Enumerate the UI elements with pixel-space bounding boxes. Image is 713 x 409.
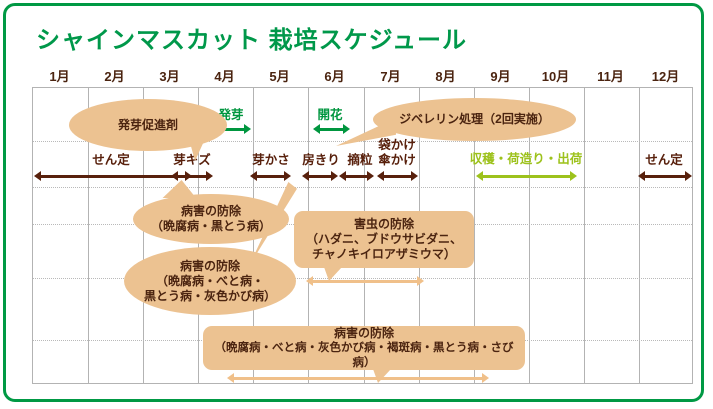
page-frame: シャインマスカット 栽培スケジュール 1月 2月 3月 4月 5月 6月 7月 … bbox=[3, 3, 704, 402]
bubble-line-1: 病害の防除 bbox=[144, 259, 276, 274]
task-arrow-cluster-thinning bbox=[302, 171, 338, 182]
arrow-bar bbox=[311, 280, 419, 283]
bubble-line-1: 害虫の防除 bbox=[306, 217, 462, 232]
bubble-line-2: （晩腐病・黒とう病） bbox=[151, 219, 271, 234]
month-label-5: 5月 bbox=[252, 66, 307, 85]
bubble-line-1: 病害の防除 bbox=[209, 326, 519, 341]
month-label-10: 10月 bbox=[528, 66, 583, 85]
grid-hline-2 bbox=[33, 187, 692, 188]
task-label-flowering: 開花 bbox=[301, 109, 359, 122]
task-label-pruning-late: せん定 bbox=[634, 154, 694, 167]
month-label-1: 1月 bbox=[32, 66, 87, 85]
arrow-bar bbox=[318, 128, 345, 131]
arrow-bar bbox=[481, 175, 572, 178]
arrow-head-right bbox=[343, 124, 350, 134]
arrow-bar bbox=[232, 377, 484, 380]
month-label-3: 3月 bbox=[142, 66, 197, 85]
bubble-text: 病害の防除 （晩腐病・べと病・灰色かび病・褐斑病・黒とう病・さび病） bbox=[203, 326, 525, 371]
month-label-4: 4月 bbox=[197, 66, 252, 85]
task-arrow-flowering bbox=[313, 124, 350, 135]
task-arrow-pruning-late bbox=[638, 171, 692, 182]
arrow-bar bbox=[344, 175, 369, 178]
bubble-text: 病害の防除 （晩腐病・黒とう病） bbox=[145, 204, 277, 234]
arrow-bar bbox=[307, 175, 333, 178]
arrow-bar bbox=[176, 175, 208, 178]
month-label-9: 9月 bbox=[473, 66, 528, 85]
arrow-head-right bbox=[417, 276, 424, 286]
task-label-cluster-thinning: 房きり bbox=[297, 154, 345, 167]
arrow-head-right bbox=[411, 171, 418, 181]
task-arrow-bagging bbox=[377, 171, 418, 182]
grid-vline-11 bbox=[639, 88, 640, 383]
bubble-line-3: チャノキイロアザミウマ） bbox=[306, 247, 462, 262]
bubble-arrow-pest-control bbox=[306, 276, 424, 287]
bubble-text: 病害の防除 （晩腐病・べと病・ 黒とう病・灰色かび病） bbox=[138, 259, 282, 304]
bubble-line-2: （晩腐病・べと病・ bbox=[144, 274, 276, 289]
task-label-pruning-early: せん定 bbox=[46, 154, 176, 167]
task-arrow-pruning-early bbox=[34, 171, 192, 182]
bubble-gibberellin-treatment: ジベレリン処理（2回実施） bbox=[373, 98, 576, 141]
arrow-head-right bbox=[482, 373, 489, 383]
task-label-bagging-line1: 袋かけ bbox=[372, 139, 422, 152]
arrow-head-right bbox=[331, 171, 338, 181]
bubble-line-3: 黒とう病・灰色かび病） bbox=[144, 289, 276, 304]
month-label-12: 12月 bbox=[638, 66, 693, 85]
month-label-8: 8月 bbox=[418, 66, 473, 85]
task-arrow-berry-thinning bbox=[339, 171, 374, 182]
month-label-7: 7月 bbox=[363, 66, 418, 85]
task-label-harvest-shipping: 収穫・荷造り・出荷 bbox=[461, 153, 591, 166]
task-label-bagging-line2: 傘かけ bbox=[372, 154, 422, 167]
bubble-tail-bud-break-promoter bbox=[189, 139, 205, 161]
bubble-disease-control-3: 病害の防除 （晩腐病・べと病・灰色かび病・褐斑病・黒とう病・さび病） bbox=[203, 326, 525, 370]
grid-vline-10 bbox=[584, 88, 585, 383]
arrow-head-right bbox=[570, 171, 577, 181]
arrow-bar bbox=[39, 175, 187, 178]
bubble-text: 害虫の防除 （ハダニ、ブドウサビダニ、 チャノキイロアザミウマ） bbox=[300, 217, 468, 262]
bubble-text: 発芽促進剤 bbox=[112, 118, 184, 133]
page-title: シャインマスカット 栽培スケジュール bbox=[36, 20, 467, 55]
bubble-line-2: （晩腐病・べと病・灰色かび病・褐斑病・黒とう病・さび病） bbox=[209, 341, 519, 371]
task-label-bud-cap: 芽かさ bbox=[243, 154, 299, 167]
bubble-text: ジベレリン処理（2回実施） bbox=[393, 112, 556, 127]
arrow-bar bbox=[382, 175, 413, 178]
arrow-bar bbox=[255, 175, 286, 178]
bubble-disease-control-2: 病害の防除 （晩腐病・べと病・ 黒とう病・灰色かび病） bbox=[124, 247, 296, 315]
arrow-head-right bbox=[284, 171, 291, 181]
bubble-line-1: 病害の防除 bbox=[151, 204, 271, 219]
bubble-pest-control: 害虫の防除 （ハダニ、ブドウサビダニ、 チャノキイロアザミウマ） bbox=[294, 211, 474, 268]
arrow-bar bbox=[643, 175, 687, 178]
task-arrow-bud-scar bbox=[171, 171, 213, 182]
arrow-head-right bbox=[685, 171, 692, 181]
month-label-2: 2月 bbox=[87, 66, 142, 85]
month-label-6: 6月 bbox=[307, 66, 362, 85]
arrow-head-right bbox=[206, 171, 213, 181]
arrow-head-right bbox=[244, 124, 251, 134]
task-arrow-bud-cap bbox=[250, 171, 291, 182]
arrow-head-right bbox=[367, 171, 374, 181]
month-label-11: 11月 bbox=[583, 66, 638, 85]
bubble-arrow-disease-control-3 bbox=[227, 373, 489, 384]
task-arrow-harvest-shipping bbox=[476, 171, 577, 182]
bubble-line-2: （ハダニ、ブドウサビダニ、 bbox=[306, 232, 462, 247]
